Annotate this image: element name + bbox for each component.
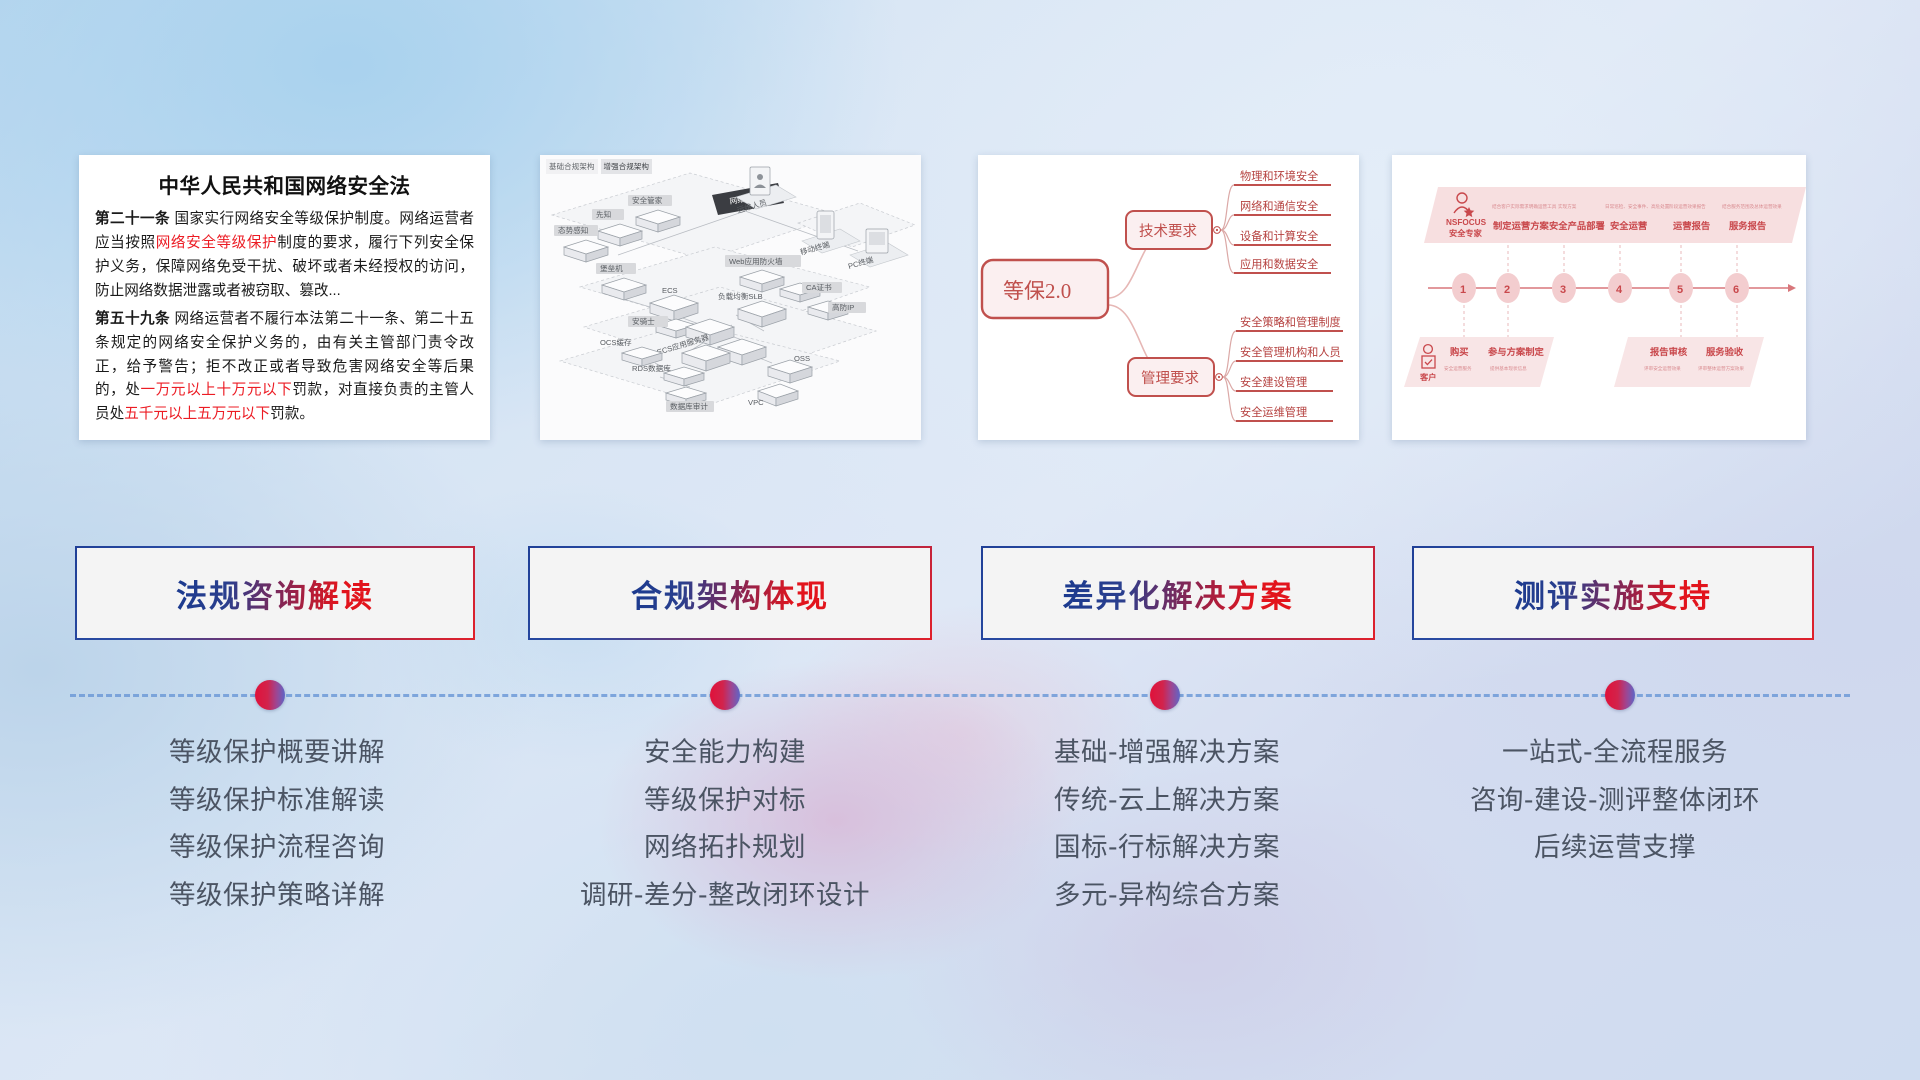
list-item: 调研-差分-整改闭环设计 [515, 883, 935, 910]
list-item: 一站式-全流程服务 [1395, 740, 1835, 767]
mindmap-branch-1-label: 技术要求 [1139, 223, 1197, 240]
law-article-59-number: 第五十九条 [95, 311, 170, 327]
nsfocus-step-4-title: 运营报告 [1673, 220, 1710, 231]
section-title-label-4: 测评实施支持 [1514, 571, 1712, 616]
nsfocus-number-5: 5 [1677, 284, 1683, 296]
law-title: 中华人民共和国网络安全法 [95, 169, 474, 199]
section-title-box-2[interactable]: 合规架构体现 [530, 548, 930, 638]
section-title-box-3[interactable]: 差异化解决方案 [983, 548, 1373, 638]
svg-text:ECS: ECS [662, 286, 678, 295]
law-article-59-seg-4: 罚款。 [270, 406, 314, 422]
list-item: 基础-增强解决方案 [952, 740, 1382, 767]
svg-text:结合服务范围及总体运营效果: 结合服务范围及总体运营效果 [1722, 203, 1782, 210]
nsfocus-customer-label: 客户 [1419, 372, 1436, 382]
architecture-svg: 网络安全 安全管家 先知 [540, 155, 921, 440]
mindmap: 等保2.0 技术要求 物理和环境安全 网络和通信安全 设备和计算安全 应用和数据… [978, 155, 1359, 440]
nsfocus-step-1-title: 制定运营方案 [1493, 220, 1549, 231]
svg-text:实现方案: 实现方案 [1558, 203, 1577, 210]
law-article-21: 第二十一条 国家实行网络安全等级保护制度。网络运营者应当按照网络安全等级保护制度… [95, 208, 474, 304]
nsfocus-number-4: 4 [1616, 284, 1623, 296]
section-title-box-4-inner: 测评实施支持 [1414, 548, 1812, 638]
svg-text:安骑士: 安骑士 [632, 316, 655, 326]
list-item: 等级保护对标 [515, 788, 935, 815]
nsfocus-step-2-title: 安全产品部署 [1549, 220, 1605, 231]
law-article-59: 第五十九条 网络运营者不履行本法第二十一条、第二十五条规定的网络安全保护义务的，… [95, 308, 474, 428]
nsfocus-brand-line2: 安全专家 [1449, 228, 1483, 238]
section-title-label-3: 差异化解决方案 [1063, 571, 1294, 616]
nsfocus-customer-step-2-title: 参与方案制定 [1488, 346, 1544, 357]
mindmap-leaf-2-1: 安全策略和管理制度 [1240, 315, 1341, 329]
svg-text:VPC: VPC [748, 398, 764, 407]
svg-text:数据库审计: 数据库审计 [670, 401, 708, 411]
card-row: 中华人民共和国网络安全法 第二十一条 国家实行网络安全等级保护制度。网络运营者应… [0, 0, 1920, 470]
section-title-box-3-inner: 差异化解决方案 [983, 548, 1373, 638]
list-item: 安全能力构建 [515, 740, 935, 767]
mindmap-root-label: 等保2.0 [1003, 279, 1071, 303]
section-items-column-3: 基础-增强解决方案 传统-云上解决方案 国标-行标解决方案 多元-异构综合方案 [952, 740, 1382, 930]
card-nsfocus-service-flow: NSFOCUS 安全专家 结合客户实际需求明确运营工具 制定运营方案 实现方案 … [1392, 155, 1806, 440]
mindmap-leaf-2-4: 安全运维管理 [1240, 405, 1307, 419]
svg-text:评审整体运营方案效果: 评审整体运营方案效果 [1698, 365, 1744, 372]
list-item: 咨询-建设-测评整体闭环 [1395, 788, 1835, 815]
nsfocus-number-3: 3 [1560, 284, 1566, 296]
svg-text:负载均衡SLB: 负载均衡SLB [718, 291, 763, 301]
list-item: 等级保护标准解读 [57, 788, 497, 815]
nsfocus-timeline: NSFOCUS 安全专家 结合客户实际需求明确运营工具 制定运营方案 实现方案 … [1392, 155, 1806, 440]
mindmap-leaf-1-1: 物理和环境安全 [1240, 169, 1318, 183]
section-title-box-1[interactable]: 法规咨询解读 [77, 548, 473, 638]
timeline-dot-3 [1150, 680, 1180, 710]
svg-text:阶段运营效果报告: 阶段运营效果报告 [1669, 203, 1706, 210]
law-article-59-seg-3: 五千元以上五万元以下 [124, 406, 270, 422]
svg-text:堡垒机: 堡垒机 [600, 263, 623, 273]
nsfocus-number-2: 2 [1504, 284, 1510, 296]
section-title-label-1: 法规咨询解读 [176, 571, 374, 616]
svg-text:OCS缓存: OCS缓存 [600, 337, 632, 347]
list-item: 等级保护流程咨询 [57, 835, 497, 862]
list-item: 后续运营支撑 [1395, 835, 1835, 862]
list-item: 多元-异构综合方案 [952, 883, 1382, 910]
list-item: 网络拓扑规划 [515, 835, 935, 862]
svg-text:日常巡检、安全事件、高危处置: 日常巡检、安全事件、高危处置 [1605, 203, 1670, 210]
nsfocus-customer-step-3-title: 报告审核 [1650, 346, 1688, 357]
svg-text:结合客户实际需求明确运营工具: 结合客户实际需求明确运营工具 [1492, 203, 1557, 210]
svg-text:高防IP: 高防IP [832, 302, 854, 312]
nsfocus-customer-step-4-title: 服务验收 [1706, 346, 1744, 357]
svg-text:态势感知: 态势感知 [558, 225, 588, 235]
nsfocus-customer-step-1-title: 购买 [1450, 346, 1469, 357]
nsfocus-step-5-title: 服务报告 [1729, 220, 1766, 231]
list-item: 等级保护策略详解 [57, 883, 497, 910]
card-cybersecurity-law: 中华人民共和国网络安全法 第二十一条 国家实行网络安全等级保护制度。网络运营者应… [79, 155, 490, 440]
law-article-21-seg-1: 网络安全等级保护 [156, 235, 277, 251]
nsfocus-step-3-title: 安全运营 [1610, 220, 1647, 231]
svg-text:提供基本现状信息: 提供基本现状信息 [1490, 365, 1527, 372]
architecture-diagram: 基础合规架构 增强合规架构 [540, 155, 921, 440]
nsfocus-number-6: 6 [1733, 284, 1739, 296]
list-item: 等级保护概要讲解 [57, 740, 497, 767]
mindmap-branch-2-label: 管理要求 [1141, 370, 1199, 387]
section-title-box-4[interactable]: 测评实施支持 [1414, 548, 1812, 638]
node-label: 安全管家 [632, 195, 663, 205]
svg-text:OSS: OSS [794, 354, 810, 363]
mindmap-leaf-1-4: 应用和数据安全 [1240, 257, 1318, 271]
svg-text:Web应用防火墙: Web应用防火墙 [729, 256, 783, 266]
svg-text:RDS数据库: RDS数据库 [632, 363, 671, 373]
section-title-box-1-inner: 法规咨询解读 [77, 548, 473, 638]
mindmap-leaf-1-3: 设备和计算安全 [1240, 229, 1318, 243]
svg-text:CA证书: CA证书 [806, 282, 832, 292]
card-mindmap-dengbao: 等保2.0 技术要求 物理和环境安全 网络和通信安全 设备和计算安全 应用和数据… [978, 155, 1359, 440]
timeline-dashed-line [70, 694, 1850, 697]
section-title-label-2: 合规架构体现 [631, 571, 829, 616]
svg-text:安全运营服务: 安全运营服务 [1444, 365, 1472, 372]
section-items-column-4: 一站式-全流程服务 咨询-建设-测评整体闭环 后续运营支撑 [1395, 740, 1835, 883]
law-article-21-number: 第二十一条 [95, 211, 170, 227]
law-content: 中华人民共和国网络安全法 第二十一条 国家实行网络安全等级保护制度。网络运营者应… [79, 155, 490, 440]
timeline-dot-4 [1605, 680, 1635, 710]
nsfocus-svg: NSFOCUS 安全专家 结合客户实际需求明确运营工具 制定运营方案 实现方案 … [1392, 155, 1806, 440]
law-article-59-seg-1: 一万元以上十万元以下 [141, 382, 293, 398]
mindmap-leaf-1-2: 网络和通信安全 [1240, 199, 1318, 213]
section-items-column-2: 安全能力构建 等级保护对标 网络拓扑规划 调研-差分-整改闭环设计 [515, 740, 935, 930]
mindmap-leaf-2-3: 安全建设管理 [1240, 375, 1307, 389]
list-item: 国标-行标解决方案 [952, 835, 1382, 862]
mindmap-leaf-2-2: 安全管理机构和人员 [1240, 345, 1341, 359]
nsfocus-brand-line1: NSFOCUS [1446, 218, 1487, 227]
timeline-dot-1 [255, 680, 285, 710]
list-item: 传统-云上解决方案 [952, 788, 1382, 815]
card-compliance-architecture: 基础合规架构 增强合规架构 [540, 155, 921, 440]
nsfocus-number-1: 1 [1460, 284, 1466, 296]
svg-text:评审安全运营效果: 评审安全运营效果 [1644, 365, 1681, 372]
mindmap-svg: 等保2.0 技术要求 物理和环境安全 网络和通信安全 设备和计算安全 应用和数据… [978, 155, 1359, 440]
timeline-dot-2 [710, 680, 740, 710]
svg-text:先知: 先知 [596, 209, 611, 219]
section-items-column-1: 等级保护概要讲解 等级保护标准解读 等级保护流程咨询 等级保护策略详解 [57, 740, 497, 930]
section-title-box-2-inner: 合规架构体现 [530, 548, 930, 638]
